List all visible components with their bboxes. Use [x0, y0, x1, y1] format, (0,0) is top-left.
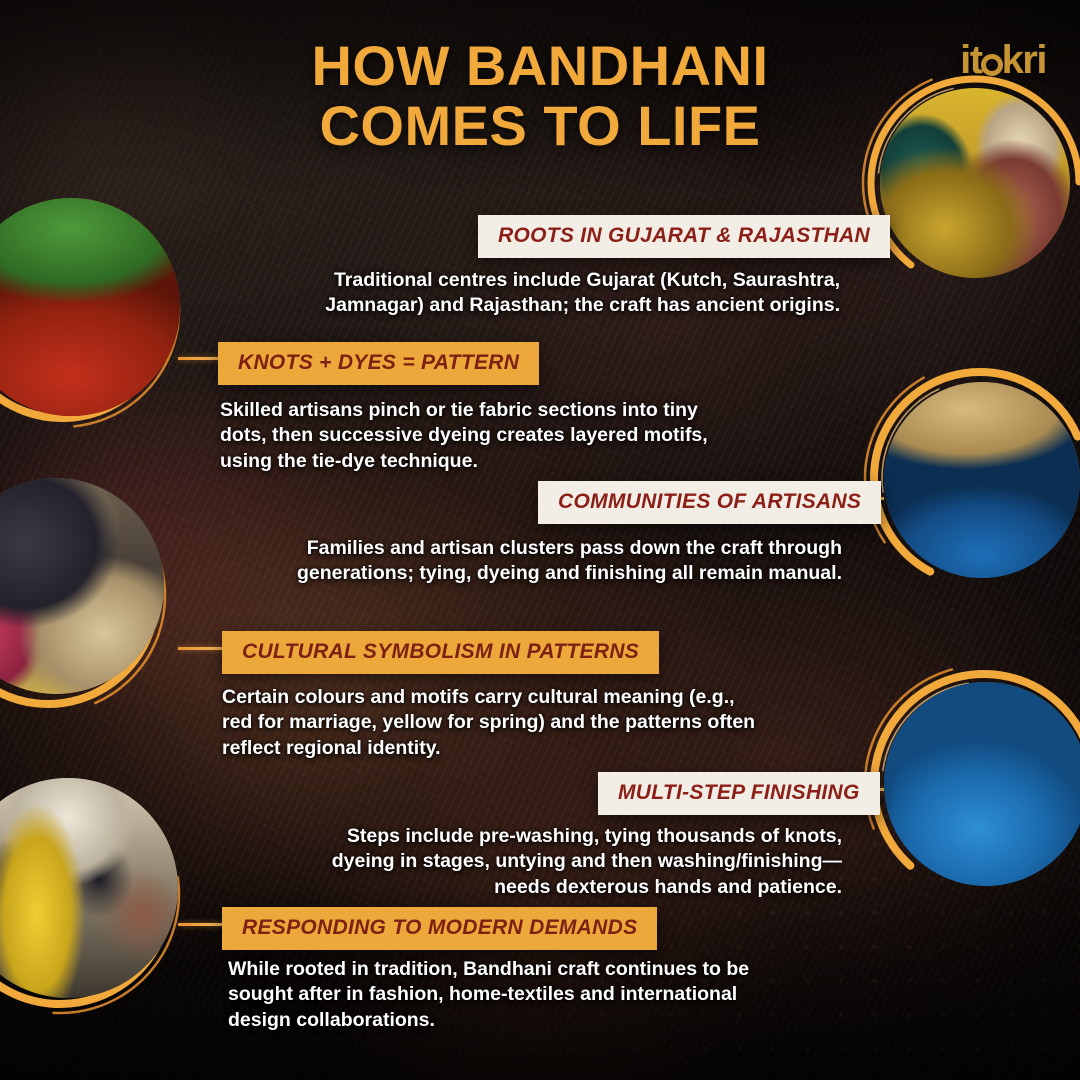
banner-knots-dyes[interactable]: KNOTS + DYES = PATTERN [218, 342, 539, 385]
banner-roots[interactable]: ROOTS IN GUJARAT & RAJASTHAN [478, 215, 890, 258]
photo-hands-knots [0, 198, 180, 416]
banner-symbolism[interactable]: CULTURAL SYMBOLISM IN PATTERNS [222, 631, 659, 674]
connector-symbolism [178, 647, 222, 650]
itokri-logo[interactable]: itkri [960, 38, 1046, 83]
banner-finishing[interactable]: MULTI-STEP FINISHING [598, 772, 880, 815]
photo-artisan-woman-image [0, 478, 164, 694]
body-finishing: Steps include pre-washing, tying thousan… [300, 824, 842, 900]
photo-dyer-blue-tub [884, 382, 1080, 578]
photo-indigo-vat [884, 682, 1080, 886]
banner-modern-demands[interactable]: RESPONDING TO MODERN DEMANDS [222, 907, 657, 950]
connector-modern-demands [178, 923, 222, 926]
body-roots: Traditional centres include Gujarat (Kut… [270, 268, 840, 319]
photo-dyer-yellow-cloth [0, 778, 178, 998]
logo-circle-o-icon [981, 54, 1003, 76]
body-modern-demands: While rooted in tradition, Bandhani craf… [228, 957, 784, 1033]
photo-indigo-vat-image [884, 682, 1080, 886]
banner-communities[interactable]: COMMUNITIES OF ARTISANS [538, 481, 881, 524]
logo-text-before: it [960, 38, 981, 83]
photo-artisan-woman [0, 478, 164, 694]
photo-dyer-blue-tub-image [884, 382, 1080, 578]
photo-women-tying [880, 88, 1070, 278]
connector-knots-dyes [178, 357, 220, 360]
photo-dyer-yellow-cloth-image [0, 778, 178, 998]
body-knots-dyes: Skilled artisans pinch or tie fabric sec… [220, 398, 740, 474]
photo-hands-knots-image [0, 198, 180, 416]
logo-text-after: kri [1002, 38, 1046, 83]
photo-women-tying-image [880, 88, 1070, 278]
body-symbolism: Certain colours and motifs carry cultura… [222, 685, 762, 761]
body-communities: Families and artisan clusters pass down … [240, 536, 842, 587]
